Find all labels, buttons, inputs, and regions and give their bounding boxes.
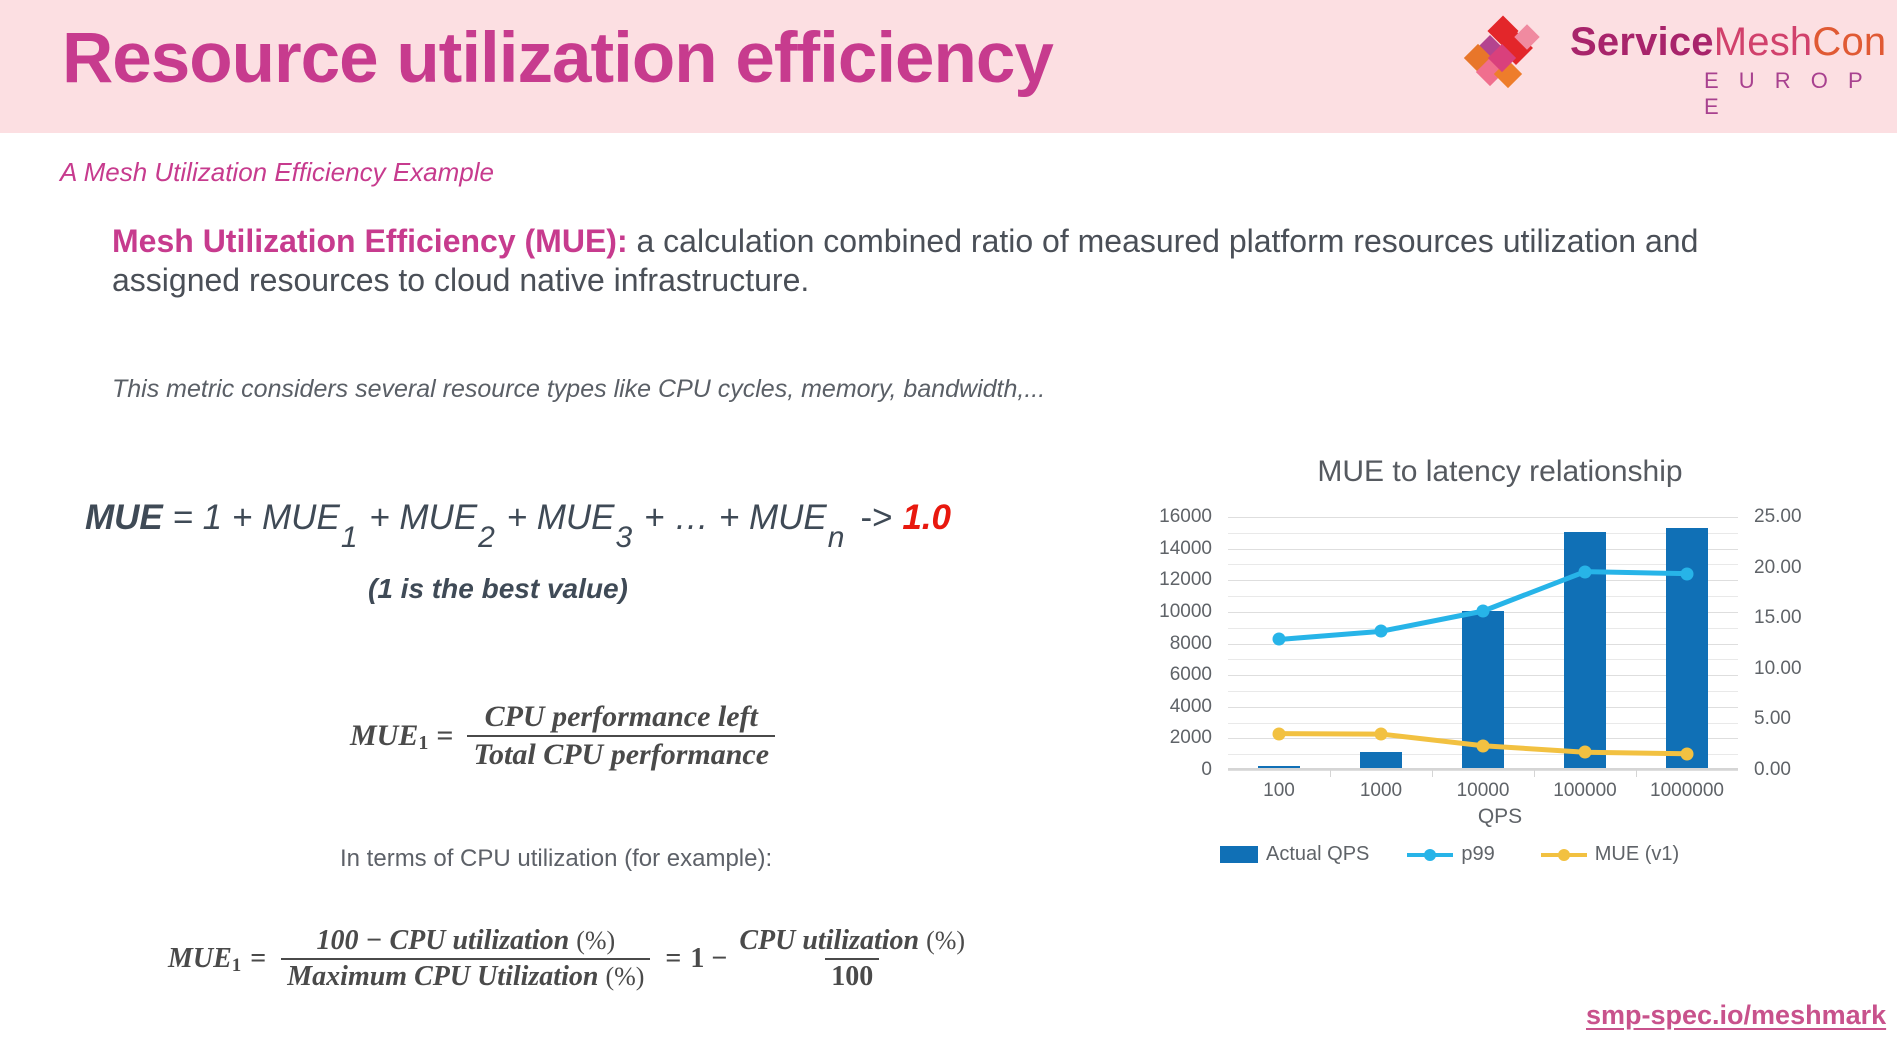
mue-lhs: MUE [85, 498, 163, 537]
mue-cpu-equals: = [428, 719, 461, 753]
logo-word-service: Service [1570, 20, 1714, 64]
metric-note: This metric considers several resource t… [112, 375, 1045, 404]
footer-link[interactable]: smp-spec.io/meshmark [1586, 1000, 1886, 1031]
mue-cpu-denominator: Total CPU performance [467, 735, 775, 772]
mue-arrow: -> [846, 498, 892, 537]
chart-x-tick: 1000000 [1627, 780, 1747, 802]
chart-y2-tick: 15.00 [1754, 607, 1874, 629]
mue-pct-one-minus: 1 − [690, 943, 727, 975]
chart-y2-tick: 10.00 [1754, 658, 1874, 680]
mue-subscript-n: n [828, 521, 848, 554]
chart-gridline [1228, 770, 1738, 771]
in-terms-label: In terms of CPU utilization (for example… [340, 845, 772, 873]
chart-plot-area: 02000400060008000100001200014000160000.0… [1228, 517, 1738, 770]
mue-cpu-fraction: CPU performance left Total CPU performan… [467, 700, 775, 772]
legend-label: p99 [1461, 843, 1494, 866]
mue-pct-equals-2: = [656, 943, 690, 975]
chart-y-tick: 4000 [1092, 696, 1212, 718]
chart-x-tickmark [1432, 770, 1433, 777]
definition-paragraph: Mesh Utilization Efficiency (MUE): a cal… [112, 222, 1712, 300]
mue-pct-numerator-1: 100 − CPU utilization (%) [311, 925, 622, 958]
mue-pct-num2-unit: (%) [926, 926, 965, 955]
logo-word-con: Con [1812, 20, 1886, 64]
chart-x-axis-label: QPS [1110, 805, 1890, 829]
chart-y2-tick: 0.00 [1754, 759, 1874, 781]
legend-item-actual-qps[interactable]: Actual QPS [1220, 843, 1369, 866]
legend-item-mue-v1-[interactable]: MUE (v1) [1541, 843, 1679, 866]
mue-pct-den1-text: Maximum CPU Utilization [287, 961, 598, 992]
mue-pct-equals-1: = [241, 943, 275, 975]
mue-pct-fraction-1: 100 − CPU utilization (%) Maximum CPU Ut… [281, 925, 650, 993]
chart-y-tick: 10000 [1092, 601, 1212, 623]
chart-y-tick: 14000 [1092, 538, 1212, 560]
mue-pct-numerator-2: CPU utilization (%) [733, 925, 971, 958]
logo-diamond-icon [1462, 10, 1562, 102]
chart-data-point [1477, 739, 1490, 752]
chart-data-point [1273, 727, 1286, 740]
mue-cpu-percent-formula: MUE1 = 100 − CPU utilization (%) Maximum… [168, 925, 977, 993]
logo-region-label: E U R O P E [1704, 68, 1882, 120]
chart-y-tick: 0 [1092, 759, 1212, 781]
page-title: Resource utilization efficiency [62, 18, 1053, 99]
mue-pct-num1-text: 100 − CPU utilization [317, 925, 570, 956]
chart-x-tickmark [1636, 770, 1637, 777]
mue-main-formula: MUE = 1 + MUE1 + MUE2 + MUE3 + … + MUEn-… [85, 498, 951, 538]
mue-cpu-formula-row: MUE1 = CPU performance left Total CPU pe… [350, 700, 781, 772]
mue-cpu-percent-row: MUE1 = 100 − CPU utilization (%) Maximum… [168, 925, 977, 993]
mue-cpu-formula: MUE1 = CPU performance left Total CPU pe… [350, 700, 781, 772]
mue-pct-lhs: MUE [168, 943, 232, 975]
legend-swatch-line-icon [1541, 846, 1587, 863]
mue-cpu-subscript: 1 [418, 732, 428, 755]
chart-y-tick: 6000 [1092, 664, 1212, 686]
mue-eq-part1: = 1 + MUE [163, 498, 340, 537]
chart-x-tickmark [1534, 770, 1535, 777]
mue-eq-part3: + MUE [497, 498, 615, 537]
chart-y-tick: 16000 [1092, 506, 1212, 528]
chart-y2-tick: 25.00 [1754, 506, 1874, 528]
chart-line-mue-v1- [1228, 517, 1738, 770]
chart-y-tick: 2000 [1092, 727, 1212, 749]
chart-title: MUE to latency relationship [1110, 455, 1890, 489]
chart-x-tickmark [1330, 770, 1331, 777]
mue-pct-den1-unit: (%) [605, 962, 644, 991]
mue-best-value-caption: (1 is the best value) [368, 573, 628, 605]
chart-data-point [1579, 746, 1592, 759]
mue-latency-chart: MUE to latency relationship 020004000600… [1110, 455, 1890, 955]
mue-pct-num2-text: CPU utilization [739, 925, 919, 956]
chart-y2-tick: 5.00 [1754, 708, 1874, 730]
mue-pct-fraction-2: CPU utilization (%) 100 [733, 925, 971, 993]
chart-legend: Actual QPSp99MUE (v1) [1220, 843, 1780, 866]
mue-eq-part2: + MUE [360, 498, 478, 537]
mue-subscript-3: 3 [616, 521, 636, 554]
mue-cpu-numerator: CPU performance left [479, 700, 764, 735]
chart-data-point [1681, 747, 1694, 760]
legend-swatch-line-icon [1407, 846, 1453, 863]
chart-y2-tick: 20.00 [1754, 557, 1874, 579]
mue-pct-denominator-2: 100 [825, 958, 879, 993]
servicemeshcon-logo: ServiceMeshCon E U R O P E [1462, 8, 1882, 118]
legend-label: MUE (v1) [1595, 843, 1679, 866]
slide-subtitle: A Mesh Utilization Efficiency Example [60, 157, 494, 188]
legend-item-p99[interactable]: p99 [1407, 843, 1494, 866]
mue-pct-denominator-1: Maximum CPU Utilization (%) [281, 958, 650, 993]
slide: Resource utilization efficiency ServiceM… [0, 0, 1897, 1050]
chart-y-tick: 12000 [1092, 569, 1212, 591]
mue-subscript-2: 2 [478, 521, 498, 554]
mue-pct-subscript: 1 [232, 955, 242, 977]
mue-limit-value: 1.0 [902, 498, 951, 537]
logo-word-mesh: Mesh [1714, 20, 1813, 64]
mue-pct-num1-unit: (%) [576, 926, 615, 955]
chart-data-point [1375, 728, 1388, 741]
chart-y-tick: 8000 [1092, 633, 1212, 655]
logo-wordmark: ServiceMeshCon [1570, 20, 1886, 65]
legend-label: Actual QPS [1266, 843, 1369, 866]
legend-swatch-bar-icon [1220, 846, 1258, 863]
mue-eq-part4: + … + MUE [634, 498, 827, 537]
definition-term: Mesh Utilization Efficiency (MUE): [112, 223, 628, 259]
mue-cpu-lhs: MUE [350, 719, 418, 753]
mue-subscript-1: 1 [341, 521, 361, 554]
